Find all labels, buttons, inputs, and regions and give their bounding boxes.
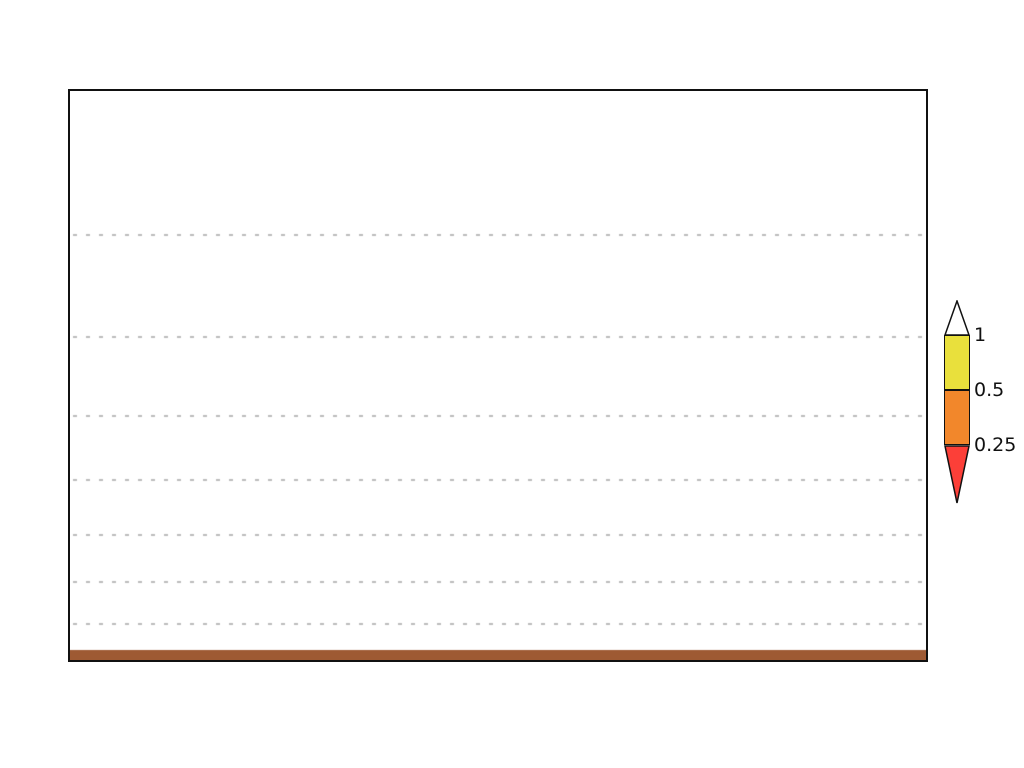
- colorbar-arrow-up-icon: [944, 300, 970, 336]
- richardson-heatmap: [70, 91, 926, 660]
- colorbar-segment: [944, 390, 970, 445]
- x-axis-labels: [68, 662, 928, 722]
- y-axis-labels: [0, 89, 60, 662]
- colorbar-tick-label: 0.25: [974, 434, 1016, 456]
- richardson-number-colorbar: 10.50.25: [944, 300, 970, 480]
- colorbar-tick-label: 0.5: [974, 379, 1004, 401]
- chart-page: 10.50.25: [0, 0, 1024, 768]
- colorbar-arrow-down-icon: [944, 445, 970, 505]
- colorbar-segment: [944, 335, 970, 390]
- colorbar-tick-label: 1: [974, 324, 986, 346]
- plot-area: [68, 89, 928, 662]
